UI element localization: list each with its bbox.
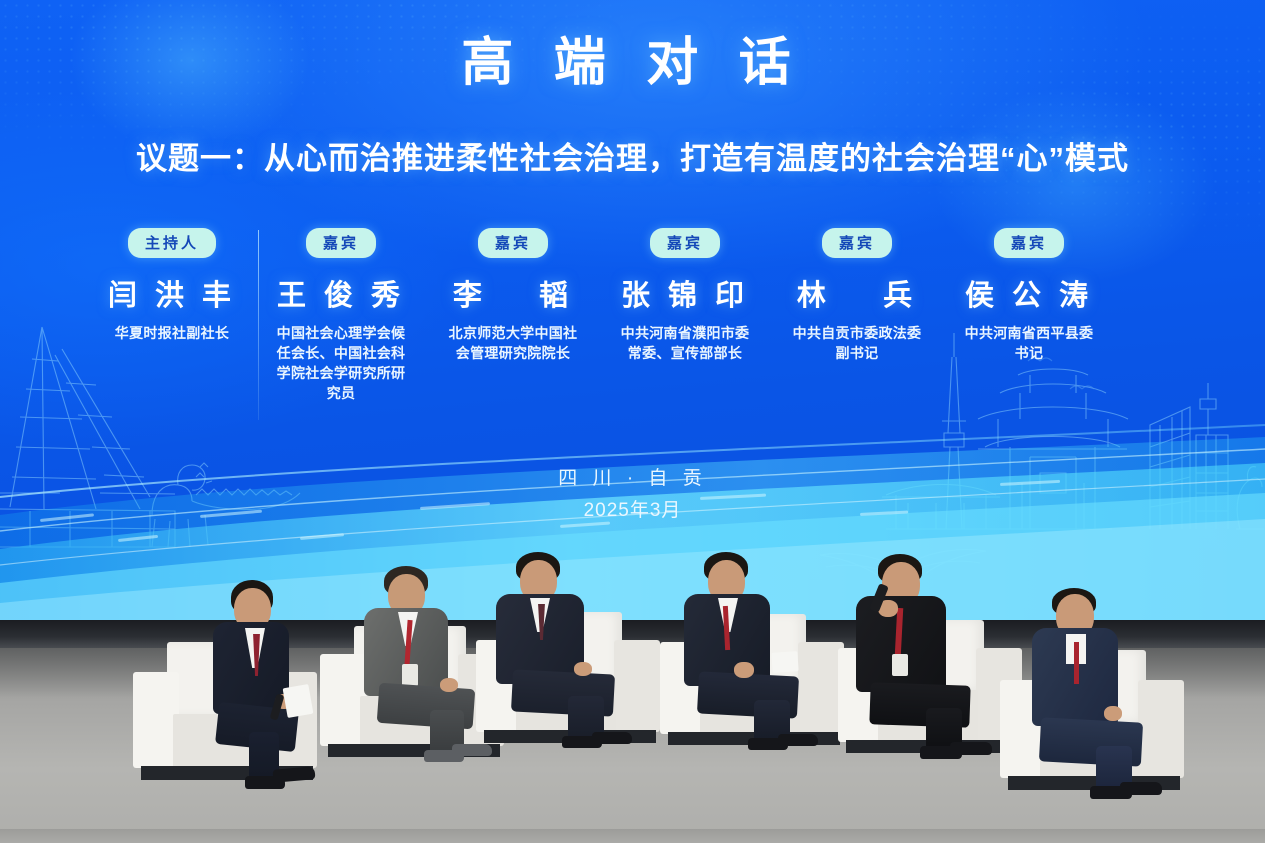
badge-card <box>892 654 908 676</box>
participant-guest-4: 嘉宾 林 兵 中共自贡市委政法委副书记 <box>784 228 930 364</box>
participant-guest-3: 嘉宾 张 锦 印 中共河南省濮阳市委常委、宣传部部长 <box>612 228 758 364</box>
page-title: 高 端 对 话 <box>0 20 1265 95</box>
lanyard <box>1074 642 1079 684</box>
participant-title: 华夏时报社副社长 <box>96 324 248 344</box>
event-date-label: 2025年3月 <box>0 495 1265 522</box>
role-badge-guest: 嘉宾 <box>650 228 720 258</box>
led-backdrop-screen: 高 端 对 话 议题一：从心而治推进柔性社会治理，打造有温度的社会治理“心”模式… <box>0 0 1265 627</box>
seat-group-4 <box>660 600 850 750</box>
participant-title: 中共河南省濮阳市委常委、宣传部部长 <box>612 324 758 364</box>
participant-name: 李 韬 <box>440 272 586 314</box>
role-badge-guest: 嘉宾 <box>306 228 376 258</box>
participant-guest-2: 嘉宾 李 韬 北京师范大学中国社会管理研究院院长 <box>440 228 586 364</box>
paper-notes <box>771 651 798 673</box>
participant-name: 张 锦 印 <box>612 272 758 314</box>
session-topic-subtitle: 议题一：从心而治推进柔性社会治理，打造有温度的社会治理“心”模式 <box>0 133 1265 178</box>
seat-group-6 <box>1000 640 1190 795</box>
participant-host: 主持人 闫 洪 丰 华夏时报社副社长 <box>96 228 248 344</box>
participant-title: 北京师范大学中国社会管理研究院院长 <box>440 324 586 364</box>
participant-name: 王 俊 秀 <box>268 272 414 314</box>
seat-group-3 <box>476 598 666 748</box>
participants-row: 主持人 闫 洪 丰 华夏时报社副社长 嘉宾 王 俊 秀 中国社会心理学会候任会长… <box>96 228 1171 404</box>
participant-name: 闫 洪 丰 <box>96 272 248 314</box>
participant-title: 中共河南省西平县委书记 <box>956 324 1102 364</box>
role-badge-guest: 嘉宾 <box>822 228 892 258</box>
conference-stage-photo: 高 端 对 话 议题一：从心而治推进柔性社会治理，打造有温度的社会治理“心”模式… <box>0 0 1265 843</box>
role-badge-guest: 嘉宾 <box>478 228 548 258</box>
host-guest-divider <box>248 228 268 404</box>
participant-name: 侯 公 涛 <box>956 272 1102 314</box>
paper-notes <box>283 684 314 718</box>
role-badge-host: 主持人 <box>128 228 216 258</box>
participant-guest-1: 嘉宾 王 俊 秀 中国社会心理学会候任会长、中国社会科学院社会学研究所研究员 <box>268 228 414 404</box>
participant-title: 中国社会心理学会候任会长、中国社会科学院社会学研究所研究员 <box>268 324 414 404</box>
badge-card <box>402 664 418 686</box>
venue-label: 四 川 · 自 贡 <box>0 463 1265 490</box>
participant-title: 中共自贡市委政法委副书记 <box>784 324 930 364</box>
participant-guest-5: 嘉宾 侯 公 涛 中共河南省西平县委书记 <box>956 228 1102 364</box>
participant-name: 林 兵 <box>784 272 930 314</box>
role-badge-guest: 嘉宾 <box>994 228 1064 258</box>
floor-band <box>0 829 1265 843</box>
seat-group-1 <box>133 628 323 783</box>
